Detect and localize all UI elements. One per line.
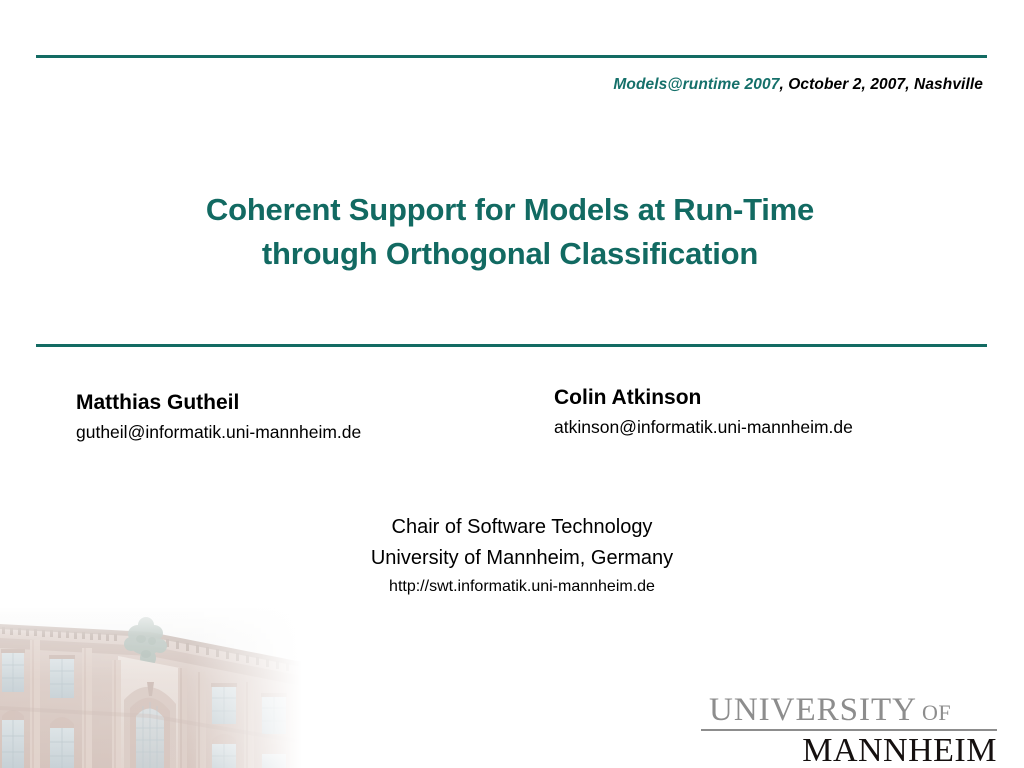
logo-word-mannheim: MANNHEIM: [701, 733, 997, 768]
slide-title-line-1: Coherent Support for Models at Run-Time: [50, 188, 970, 232]
author-email-secondary[interactable]: atkinson@informatik.uni-mannheim.de: [554, 415, 853, 439]
conference-header: Models@runtime 2007, October 2, 2007, Na…: [613, 76, 983, 94]
logo-top-row: UNIVERSITYOF: [701, 694, 997, 727]
mannheim-palace-photo: [0, 608, 302, 768]
author-email-primary[interactable]: gutheil@informatik.uni-mannheim.de: [76, 420, 361, 444]
top-divider-rule: [36, 55, 987, 58]
palace-facade-illustration: [0, 608, 302, 768]
presentation-slide: Models@runtime 2007, October 2, 2007, Na…: [0, 0, 1024, 768]
slide-title: Coherent Support for Models at Run-Time …: [50, 188, 970, 276]
author-name-secondary: Colin Atkinson: [554, 385, 853, 411]
affiliation-department: Chair of Software Technology: [212, 512, 832, 543]
affiliation-url[interactable]: http://swt.informatik.uni-mannheim.de: [212, 574, 832, 600]
conference-name: Models@runtime 2007: [613, 76, 779, 93]
author-name-primary: Matthias Gutheil: [76, 390, 361, 416]
conference-details: , October 2, 2007, Nashville: [779, 76, 983, 93]
affiliation-university: University of Mannheim, Germany: [212, 543, 832, 574]
slide-title-line-2: through Orthogonal Classification: [50, 232, 970, 276]
author-block-secondary: Colin Atkinson atkinson@informatik.uni-m…: [554, 385, 853, 439]
author-block-primary: Matthias Gutheil gutheil@informatik.uni-…: [76, 390, 361, 444]
university-of-mannheim-logo: UNIVERSITYOF MANNHEIM: [701, 694, 997, 768]
affiliation-block: Chair of Software Technology University …: [212, 512, 832, 600]
logo-underline-rule: [701, 729, 997, 731]
logo-word-university: UNIVERSITY: [709, 692, 917, 728]
logo-word-of: OF: [922, 700, 951, 725]
middle-divider-rule: [36, 344, 987, 347]
